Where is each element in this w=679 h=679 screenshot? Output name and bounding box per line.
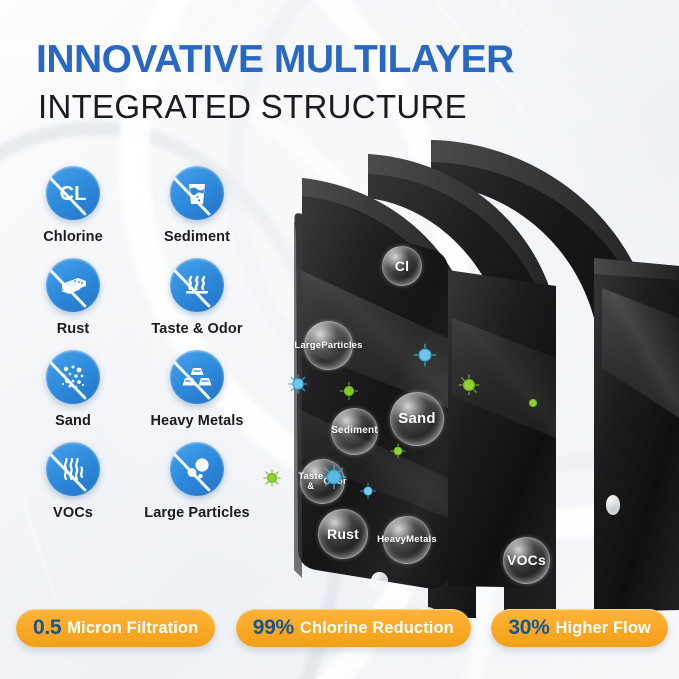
heavy-metals-ingots-icon	[170, 350, 224, 404]
page-title: INNOVATIVE MULTILAYER	[36, 40, 514, 81]
icon-item-rust[interactable]: Rust	[18, 258, 128, 350]
icon-item-heavy-metals[interactable]: Heavy Metals	[128, 350, 266, 442]
icon-label: Heavy Metals	[150, 413, 243, 429]
feature-label: Higher Flow	[555, 619, 651, 638]
svg-text:CL: CL	[60, 183, 87, 205]
contaminant-bubble: VOCs	[503, 537, 550, 584]
contaminant-bubble: Sediment	[331, 408, 378, 455]
icon-item-sediment[interactable]: Sediment	[128, 166, 266, 258]
icon-label: Chlorine	[43, 229, 103, 245]
microbe-particle-blue	[358, 481, 378, 501]
feature-pill-chlorine[interactable]: 99% Chlorine Reduction	[236, 609, 471, 647]
filter-cartridge-svg	[232, 118, 679, 618]
feature-value: 99%	[253, 616, 294, 640]
vocs-waves-icon	[46, 442, 100, 496]
feature-label: Micron Filtration	[67, 619, 198, 638]
contaminant-bubble: Sand	[390, 392, 444, 446]
plain-bubble	[486, 587, 497, 598]
microbe-particle-green	[457, 373, 481, 397]
filter-panel-right	[594, 258, 679, 612]
microbe-particle-blue	[287, 373, 309, 395]
large-particles-icon	[170, 442, 224, 496]
microbe-particle-blue	[412, 342, 438, 368]
icon-item-chlorine[interactable]: CL Chlorine	[18, 166, 128, 258]
contaminant-bubble: Rust	[318, 509, 368, 559]
feature-value: 30%	[508, 616, 549, 640]
feature-label: Chlorine Reduction	[300, 619, 454, 638]
icon-label: Sediment	[164, 229, 230, 245]
contaminant-icon-grid: CL Chlorine Sediment	[18, 166, 266, 534]
plain-bubble	[371, 572, 388, 589]
microbe-particle-green	[525, 395, 541, 411]
icon-label: Rust	[57, 321, 90, 337]
contaminant-bubble: HeavyMetals	[383, 516, 431, 564]
sediment-glass-icon	[170, 166, 224, 220]
infographic-page: INNOVATIVE MULTILAYER INTEGRATED STRUCTU…	[0, 0, 679, 679]
icon-label: Large Particles	[144, 505, 249, 521]
feature-pill-micron[interactable]: 0.5 Micron Filtration	[16, 609, 215, 647]
chlorine-cl-icon: CL	[46, 166, 100, 220]
microbe-particle-green	[389, 442, 407, 460]
icon-item-sand[interactable]: Sand	[18, 350, 128, 442]
microbe-particle-blue	[320, 463, 348, 491]
microbe-particle-green	[338, 380, 360, 402]
taste-odor-steam-icon	[170, 258, 224, 312]
icon-label: Sand	[55, 413, 91, 429]
icon-item-taste-odor[interactable]: Taste & Odor	[128, 258, 266, 350]
sand-dots-icon	[46, 350, 100, 404]
contaminant-bubble: LargeParticles	[304, 321, 353, 370]
filter-edge-highlight	[294, 214, 302, 578]
plain-bubble	[606, 495, 620, 515]
feature-pill-row: 0.5 Micron Filtration 99% Chlorine Reduc…	[16, 609, 668, 647]
rust-pipe-icon	[46, 258, 100, 312]
icon-item-large-particles[interactable]: Large Particles	[128, 442, 266, 534]
icon-item-vocs[interactable]: VOCs	[18, 442, 128, 534]
headings-block: INNOVATIVE MULTILAYER INTEGRATED STRUCTU…	[36, 40, 514, 125]
icon-label: VOCs	[53, 505, 93, 521]
icon-label: Taste & Odor	[151, 321, 242, 337]
product-illustration: ClLargeParticlesSedimentSandTaste &OdorR…	[232, 118, 679, 618]
feature-value: 0.5	[33, 616, 61, 640]
feature-pill-flow[interactable]: 30% Higher Flow	[491, 609, 668, 647]
contaminant-bubble: Cl	[382, 246, 422, 286]
